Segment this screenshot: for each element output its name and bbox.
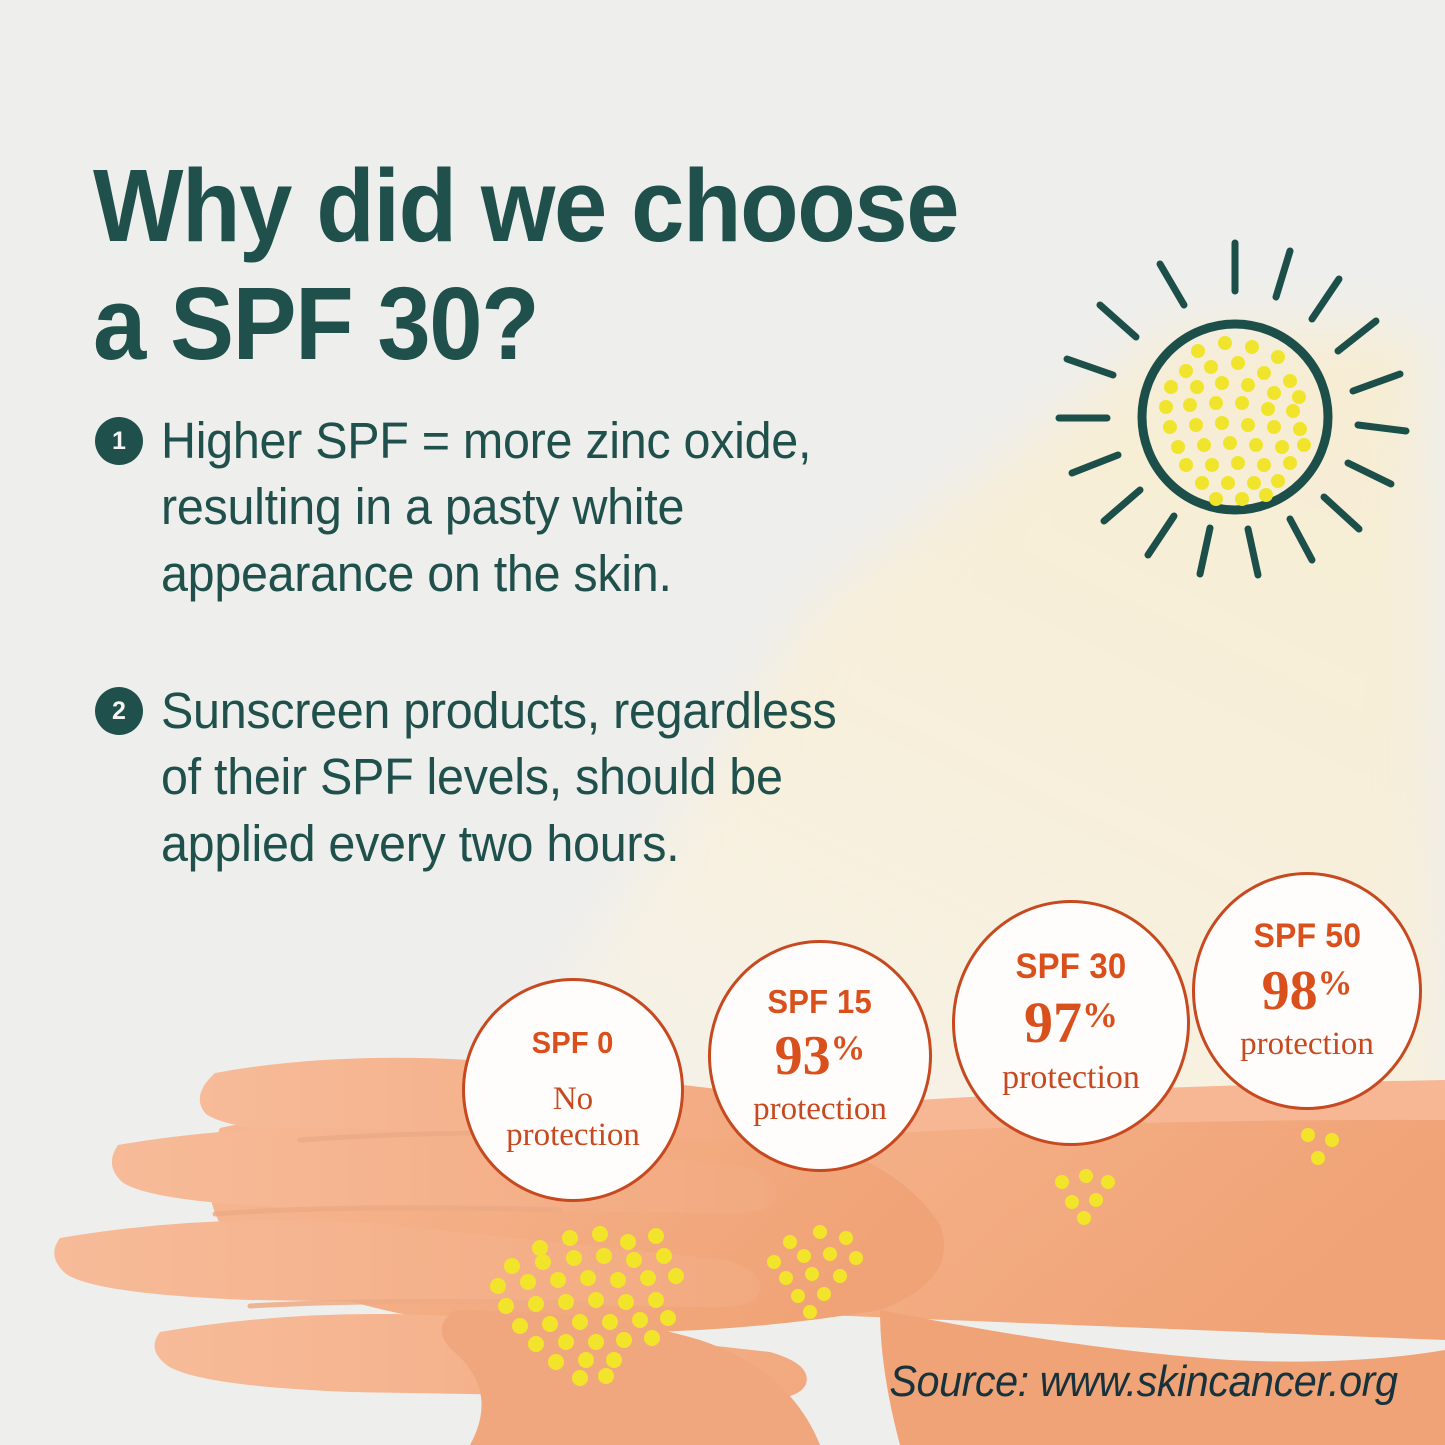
spf-bubble-30-percent-sign: % — [1082, 995, 1118, 1035]
source-attribution: Source: www.skincancer.org — [889, 1357, 1397, 1407]
page-title: Why did we choose a SPF 30? — [93, 147, 1144, 384]
spf-bubble-15-label: SPF 15 — [768, 985, 873, 1018]
list-item-point-1: 1 Higher SPF = more zinc oxide, resultin… — [95, 408, 1055, 607]
spf-bubble-50: SPF 50 98% protection — [1192, 872, 1422, 1110]
infographic-poster: Why did we choose a SPF 30? 1 Higher SPF… — [0, 0, 1445, 1445]
point-number-badge-1: 1 — [95, 417, 143, 465]
spf-bubble-15-percent: 93% — [775, 1028, 866, 1084]
spf-bubble-50-protection: protection — [1240, 1027, 1374, 1063]
spf-bubble-0-label: SPF 0 — [532, 1027, 614, 1058]
spf-bubble-50-label: SPF 50 — [1253, 919, 1361, 953]
spf-bubble-15-protection: protection — [753, 1092, 887, 1128]
spf-bubble-50-value: 98 — [1262, 960, 1318, 1022]
spf-bubble-15-percent-sign: % — [831, 1028, 866, 1067]
spf-bubble-0: SPF 0 No protection — [462, 978, 684, 1202]
spf-bubble-30-label: SPF 30 — [1016, 949, 1127, 984]
spf-bubble-30-percent: 97% — [1024, 994, 1118, 1052]
spf-bubble-15-value: 93 — [775, 1025, 831, 1087]
spf-bubble-0-protection: No protection — [506, 1082, 640, 1153]
spf-bubble-50-percent: 98% — [1262, 963, 1353, 1019]
point-number-badge-2: 2 — [95, 687, 143, 735]
point-text-2: Sunscreen products, regardless of their … — [161, 678, 837, 877]
list-item-point-2: 2 Sunscreen products, regardless of thei… — [95, 678, 1115, 877]
spf-bubble-30: SPF 30 97% protection — [952, 900, 1190, 1146]
spf-bubble-30-value: 97 — [1024, 990, 1082, 1055]
point-text-1: Higher SPF = more zinc oxide, resulting … — [161, 408, 811, 607]
spf-bubble-50-percent-sign: % — [1318, 964, 1353, 1003]
spf-bubble-30-protection: protection — [1002, 1060, 1140, 1097]
spf-bubble-15: SPF 15 93% protection — [708, 940, 932, 1172]
